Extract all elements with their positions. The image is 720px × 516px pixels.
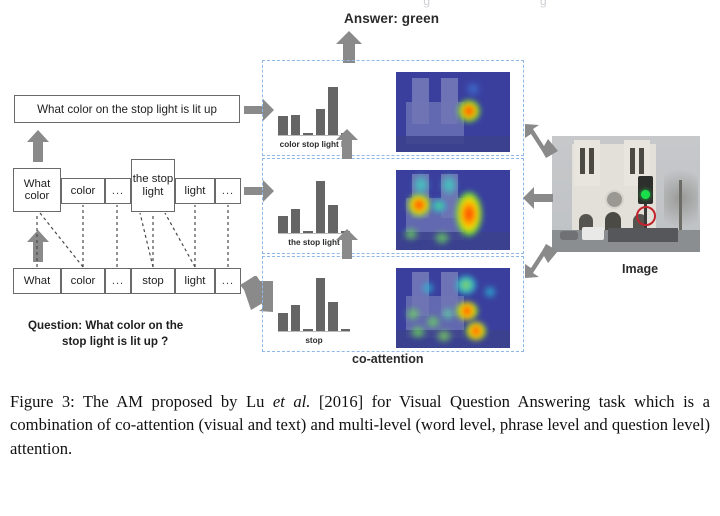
question-sentence-text: What color on the stop light is lit up <box>37 103 217 116</box>
bar-chart-word-level-bars <box>278 275 350 331</box>
image-label: Image <box>622 262 658 276</box>
cathedral-tower-left <box>574 140 600 186</box>
phrase-token-1: color <box>61 178 105 204</box>
bar <box>316 181 326 233</box>
arrow-panel2-to-panel1 <box>335 128 359 160</box>
tree-trunk <box>679 180 682 230</box>
source-image <box>552 136 700 252</box>
phrase-token-2-label: ... <box>112 185 124 197</box>
heatmap-scene <box>396 268 510 348</box>
bar-chart-question-level-bars <box>278 79 350 135</box>
bar <box>291 209 301 233</box>
figure-caption-text: Figure 3: The AM proposed by Lu et al. [… <box>10 390 710 460</box>
bar <box>291 115 301 135</box>
car <box>560 231 578 240</box>
bar <box>278 313 288 331</box>
question-caption: Question: What color on the stop light i… <box>28 318 243 349</box>
arrow-phrase-to-question <box>26 129 50 163</box>
coattention-label: co-attention <box>352 352 424 366</box>
phrase-token-3-label: the stop light <box>132 173 174 198</box>
phrase-token-4: light <box>175 178 215 204</box>
figure-caption: Figure 3: The AM proposed by Lu et al. [… <box>0 386 720 516</box>
caption-part1: Figure 3: The AM proposed by Lu <box>10 392 273 411</box>
bar <box>328 302 338 331</box>
bar-chart-word-level: stop <box>278 262 350 344</box>
bar <box>316 278 326 331</box>
bar <box>291 305 301 331</box>
bar-chart-axis <box>278 331 350 332</box>
arrow-image-to-panel-phrase <box>522 186 554 210</box>
heatmap-scene <box>396 170 510 250</box>
question-sentence-box: What color on the stop light is lit up <box>14 95 240 123</box>
question-caption-line2: stop light is lit up ? <box>28 334 243 350</box>
arrow-image-to-panel-question <box>524 124 558 158</box>
figure-diagram: g g Answer: green What color on the stop… <box>0 0 720 384</box>
phrase-token-1-label: color <box>71 185 96 197</box>
bar <box>278 116 288 135</box>
bar <box>316 109 326 135</box>
heatmap-word-level <box>396 268 510 348</box>
bar <box>278 216 288 233</box>
arrow-image-to-panel-word <box>524 244 558 278</box>
cropped-text-above: g g <box>300 0 547 8</box>
heatmap-question-level <box>396 72 510 152</box>
phrase-token-2: ... <box>105 178 131 204</box>
van <box>582 227 604 240</box>
phrase-token-5-label: ... <box>222 185 234 197</box>
bar-chart-phrase-level-bars <box>278 177 350 233</box>
phrase-token-0-label: What color <box>14 178 60 203</box>
word-token-2-label: ... <box>112 275 124 287</box>
word-phrase-connectors <box>0 205 250 275</box>
tower-window-left <box>580 148 585 174</box>
tower-window-left2 <box>589 148 594 174</box>
word-token-5-label: ... <box>222 275 234 287</box>
traffic-light-green-lamp <box>641 190 650 199</box>
answer-text: Answer: green <box>344 11 439 26</box>
bar-chart-word-level-label: stop <box>278 336 350 345</box>
phrase-token-4-label: light <box>185 185 206 197</box>
arrow-panel3-to-panel2 <box>335 228 359 260</box>
word-token-0-label: What <box>24 275 51 287</box>
word-token-4-label: light <box>185 275 206 287</box>
phrase-token-5: ... <box>215 178 241 204</box>
caption-italic: et al. <box>273 392 311 411</box>
word-token-1-label: color <box>71 275 96 287</box>
tower-window-right2 <box>639 148 644 174</box>
question-caption-line1: Question: What color on the <box>28 319 183 332</box>
heatmap-scene <box>396 72 510 152</box>
rose-window <box>605 190 624 209</box>
no-entry-sign <box>636 206 656 226</box>
word-token-3-label: stop <box>142 275 164 287</box>
heatmap-phrase-level <box>396 170 510 250</box>
arrow-to-answer <box>335 30 363 64</box>
tower-window-right <box>630 148 635 174</box>
crowd <box>608 228 678 242</box>
